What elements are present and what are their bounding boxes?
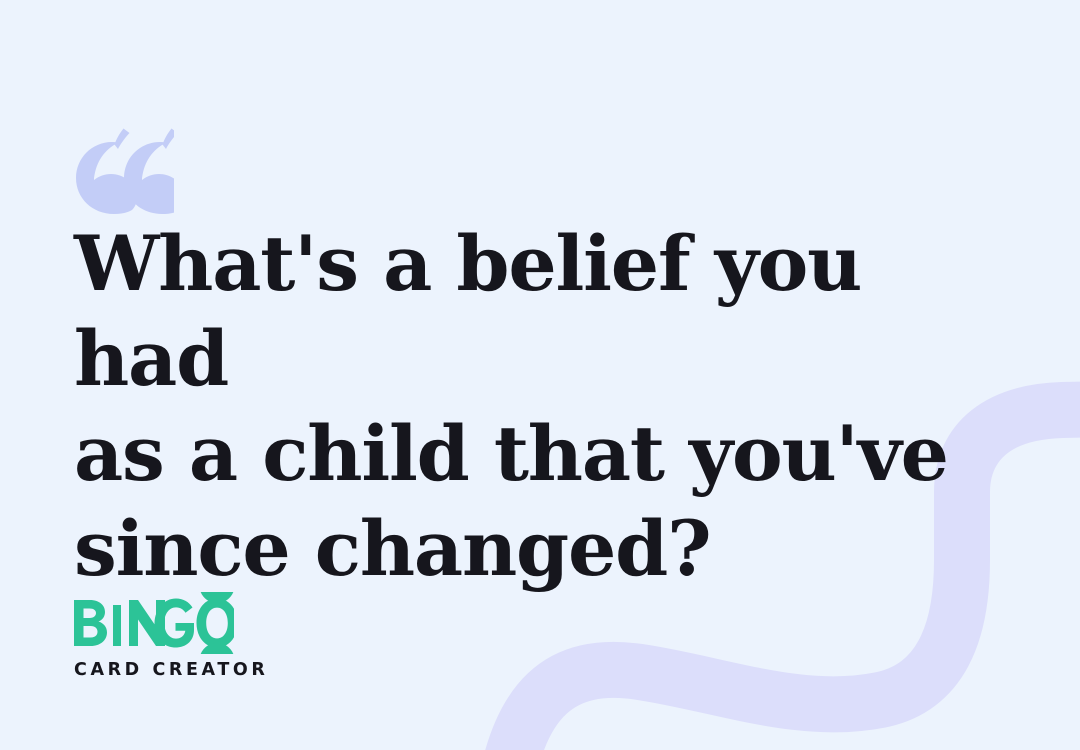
double-quote-open-icon [74,128,174,214]
quote-text: What's a belief you had as a child that … [74,216,994,596]
quote-card: What's a belief you had as a child that … [0,0,1080,750]
logo-letter-o [197,599,235,648]
logo-letter-i [113,605,121,646]
logo-ornament-top-icon [199,592,234,603]
logo-ornament-bottom-icon [199,643,234,654]
logo-tagline: CARD CREATOR [74,660,314,680]
logo-letter-b [74,600,107,646]
brand-logo: CARD CREATOR [74,592,314,680]
bingo-wordmark-icon [74,592,234,654]
